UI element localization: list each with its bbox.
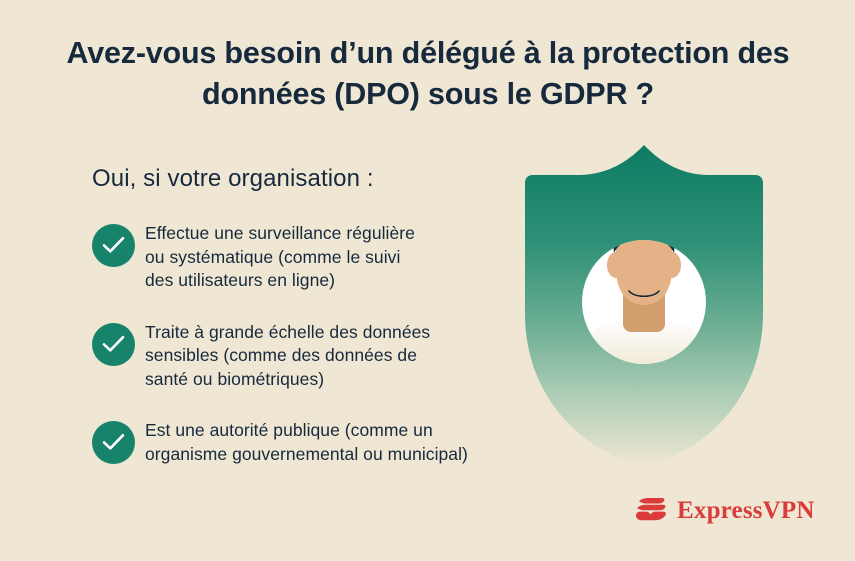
subtitle: Oui, si votre organisation : (92, 163, 374, 195)
shield-with-person-avatar-illustration (519, 145, 769, 475)
expressvpn-logo: ExpressVPN (632, 492, 815, 530)
criteria-list: Effectue une surveillance régulière ou s… (92, 222, 562, 466)
check-icon (92, 224, 135, 267)
expressvpn-wordmark: ExpressVPN (677, 498, 815, 525)
check-icon (92, 323, 135, 366)
list-item-label: Traite à grande échelle des données sens… (145, 321, 562, 392)
page-title: Avez-vous besoin d’un délégué à la prote… (48, 33, 808, 115)
list-item: Effectue une surveillance régulière ou s… (92, 222, 562, 293)
list-item: Est une autorité publique (comme un orga… (92, 419, 562, 466)
check-icon (92, 421, 135, 464)
list-item-label: Est une autorité publique (comme un orga… (145, 419, 562, 466)
infographic-canvas: Avez-vous besoin d’un délégué à la prote… (0, 0, 855, 561)
list-item-label: Effectue une surveillance régulière ou s… (145, 222, 562, 293)
expressvpn-e-mark-icon (632, 492, 670, 530)
list-item: Traite à grande échelle des données sens… (92, 321, 562, 392)
